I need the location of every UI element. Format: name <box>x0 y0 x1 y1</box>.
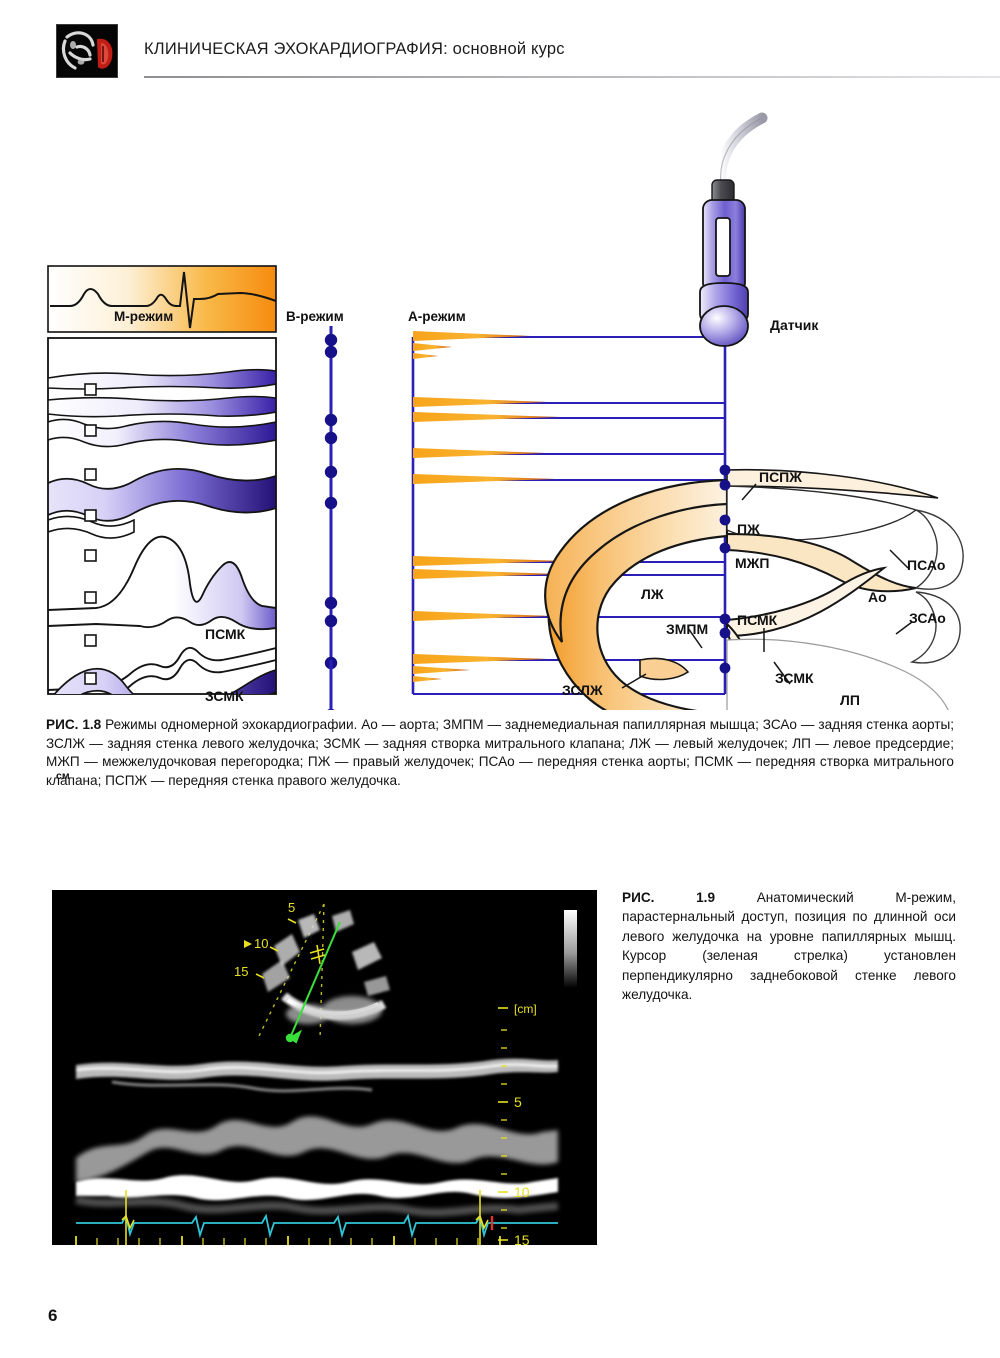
figure-1-8-diagram: М-режим В-режим А-режим Датчик ПСМК ЗСМК… <box>0 100 1000 710</box>
page-header: КЛИНИЧЕСКАЯ ЭХОКАРДИОГРАФИЯ: основной ку… <box>56 24 956 82</box>
header-title-sub: : основной курс <box>443 40 565 58</box>
bmode-column <box>325 326 337 710</box>
figure-1-9-caption-text: Анатомический М-режим, парастернальный д… <box>622 890 956 1002</box>
anatomy-label-posteromedial-papillary-muscle: ЗМПМ <box>666 621 708 637</box>
anatomy-label-aorta-posterior-wall: ЗСАо <box>909 610 946 626</box>
transducer-label: Датчик <box>770 317 818 333</box>
anatomy-label-posterior-mitral-leaflet: ЗСМК <box>775 670 814 686</box>
anatomy-label-anterior-mitral-leaflet: ПСМК <box>737 612 777 628</box>
figure-1-8-caption-number: РИС. 1.8 <box>46 717 101 732</box>
anatomy-label-left-ventricle: ЛЖ <box>641 586 663 602</box>
mmode-label-anterior-mitral-leaflet: ПСМК <box>205 626 245 642</box>
depth-unit-label: [cm] <box>514 1002 537 1016</box>
figure-1-8-caption: РИС. 1.8 Режимы одномерной эхокардиограф… <box>46 716 954 790</box>
mmode-panel <box>48 338 276 710</box>
mode-label-a: А-режим <box>408 309 466 324</box>
sector-depth-5: 5 <box>288 900 295 915</box>
anatomy-label-lv-posterior-wall: ЗСЛЖ <box>562 682 603 698</box>
page-number: 6 <box>48 1306 57 1326</box>
mode-label-b: В-режим <box>286 309 344 324</box>
anatomy-label-aorta: Ао <box>868 589 887 605</box>
depth-tick-10: 10 <box>514 1184 530 1200</box>
anatomy-label-interventricular-septum: МЖП <box>735 555 769 571</box>
figure-1-9-caption: РИС. 1.9 Анатомический М-режим, парастер… <box>622 888 956 1004</box>
anatomy-label-aorta-anterior-wall: ПСАо <box>907 557 946 573</box>
anatomy-label-rv-anterior-wall: ПСПЖ <box>759 469 802 485</box>
mode-label-m: М-режим <box>114 309 173 324</box>
sector-depth-15: 15 <box>234 964 248 979</box>
transducer <box>700 118 762 346</box>
amode-spikes <box>413 331 566 682</box>
figure-1-8-caption-text: Режимы одномерной эхокардиографии. Ао — … <box>46 717 954 788</box>
sector-depth-10: 10 <box>254 936 268 951</box>
depth-tick-5: 5 <box>514 1094 522 1110</box>
header-title: КЛИНИЧЕСКАЯ ЭХОКАРДИОГРАФИЯ: основной ку… <box>144 40 565 59</box>
header-title-main: КЛИНИЧЕСКАЯ ЭХОКАРДИОГРАФИЯ <box>144 40 443 58</box>
mmode-label-posterior-mitral-leaflet: ЗСМК <box>205 688 244 704</box>
depth-tick-15: 15 <box>514 1232 530 1245</box>
cardiac-anatomy <box>545 465 963 710</box>
figure-1-9-caption-number: РИС. 1.9 <box>622 890 715 905</box>
anatomy-label-right-ventricle: ПЖ <box>737 521 760 537</box>
header-divider <box>144 76 1000 78</box>
grayscale-bar <box>564 910 577 988</box>
figure-1-9-ultrasound: 5 10 15 [cm] 5 10 15 -4 -3 -2 -1 0 50 mm… <box>52 890 597 1245</box>
echocardiogram-thumbnail-icon <box>56 24 118 78</box>
anatomy-label-left-atrium: ЛП <box>840 692 860 708</box>
textbook-page: КЛИНИЧЕСКАЯ ЭХОКАРДИОГРАФИЯ: основной ку… <box>0 0 1000 1358</box>
